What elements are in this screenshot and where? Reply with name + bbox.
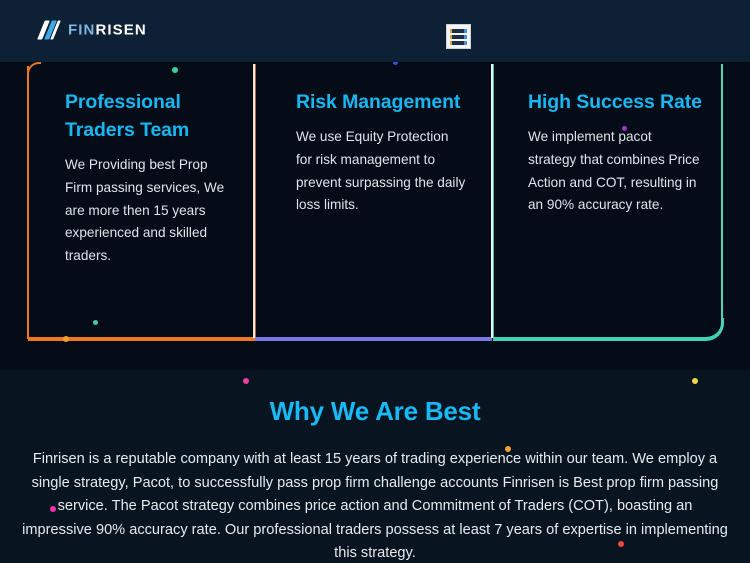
- feature-card-professional-traders-team[interactable]: Professional Traders Team We Providing b…: [27, 62, 258, 342]
- dot-pink-body: [50, 506, 56, 512]
- feature-card-body: We use Equity Protection for risk manage…: [296, 126, 466, 217]
- brand-logo-risen: RISEN: [95, 22, 146, 39]
- hamburger-bar-1: [450, 29, 467, 33]
- card-2-bottom-accent: [255, 337, 492, 341]
- feature-card-title: High Success Rate: [528, 88, 726, 116]
- brand-logo[interactable]: FINRISEN: [40, 21, 147, 40]
- hamburger-bar-2: [450, 35, 467, 39]
- dot-pink-mid: [243, 378, 249, 384]
- dot-orange-card1: [63, 336, 69, 342]
- feature-card-high-success-rate[interactable]: High Success Rate We implement pacot str…: [490, 62, 750, 342]
- features-card-row: Professional Traders Team We Providing b…: [27, 62, 750, 342]
- card-divider-2-glow: [493, 64, 494, 338]
- card-1-left-accent: [27, 66, 29, 339]
- dot-red-body: [618, 541, 624, 547]
- dot-green-top: [172, 67, 178, 73]
- feature-card-body: We implement pacot strategy that combine…: [528, 126, 700, 217]
- card-3-right-accent: [721, 64, 723, 320]
- dot-teal-card1: [93, 320, 98, 325]
- feature-card-title: Risk Management: [296, 88, 466, 116]
- card-3-bottom-accent: [493, 337, 705, 341]
- dot-purple-card3: [622, 126, 627, 131]
- site-header: FINRISEN: [0, 0, 750, 62]
- feature-card-title: Professional Traders Team: [65, 88, 234, 144]
- brand-logo-text: FINRISEN: [68, 23, 147, 38]
- why-we-are-best-section: Why We Are Best Finrisen is a reputable …: [0, 370, 750, 563]
- feature-card-risk-management[interactable]: Risk Management We use Equity Protection…: [258, 62, 490, 342]
- dot-orange-body: [505, 446, 511, 452]
- page-title: Why We Are Best: [0, 396, 750, 427]
- card-divider-1-glow: [255, 64, 256, 338]
- brand-logo-fin: FIN: [68, 22, 95, 39]
- hamburger-bar-3: [450, 41, 467, 45]
- slash-bars-logo-icon: [40, 21, 61, 40]
- feature-card-body: We Providing best Prop Firm passing serv…: [65, 154, 234, 268]
- features-section: Professional Traders Team We Providing b…: [0, 62, 750, 370]
- dot-yellow-mid: [692, 378, 698, 384]
- hamburger-menu-icon[interactable]: [446, 24, 471, 49]
